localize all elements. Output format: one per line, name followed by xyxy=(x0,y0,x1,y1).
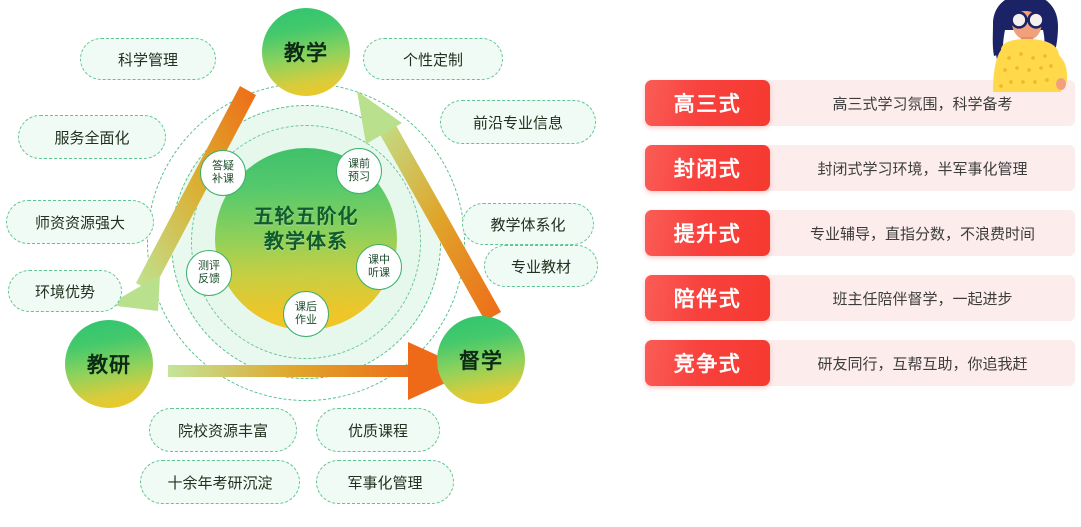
feature-badge-label: 竞争式 xyxy=(674,348,742,378)
satellite-line-1: 测评 xyxy=(198,260,220,273)
arrow-research-to-supervise xyxy=(168,342,472,400)
feature-description: 高三式学习氛围，科学备考 xyxy=(770,93,1075,114)
satellite-line-1: 课前 xyxy=(348,158,370,171)
node-supervise[interactable]: 督学 xyxy=(437,316,525,404)
feature-badge-label: 陪伴式 xyxy=(674,283,742,313)
satellite-in-class[interactable]: 课中 听课 xyxy=(356,244,402,290)
satellite-line-1: 课后 xyxy=(295,301,317,314)
feature-badge: 竞争式 xyxy=(645,340,770,386)
feature-pill[interactable]: 十余年考研沉淀 xyxy=(140,460,300,504)
node-research-label: 教研 xyxy=(87,349,131,379)
feature-badge-label: 高三式 xyxy=(674,88,742,118)
feature-badge-label: 封闭式 xyxy=(674,153,742,183)
feature-badge: 提升式 xyxy=(645,210,770,256)
node-research[interactable]: 教研 xyxy=(65,320,153,408)
satellite-line-2: 预习 xyxy=(348,171,370,184)
feature-pill[interactable]: 优质课程 xyxy=(316,408,440,452)
satellite-tutoring[interactable]: 答疑 补课 xyxy=(200,150,246,196)
feature-row[interactable]: 陪伴式 班主任陪伴督学，一起进步 xyxy=(645,275,1075,321)
feature-pill[interactable]: 服务全面化 xyxy=(18,115,166,159)
feature-description: 专业辅导，直指分数，不浪费时间 xyxy=(770,223,1075,244)
satellite-homework[interactable]: 课后 作业 xyxy=(283,291,329,337)
feature-pill-label: 师资资源强大 xyxy=(35,212,125,233)
satellite-line-1: 课中 xyxy=(368,254,390,267)
feature-row[interactable]: 竞争式 研友同行，互帮互助，你追我赶 xyxy=(645,340,1075,386)
feature-row[interactable]: 提升式 专业辅导，直指分数，不浪费时间 xyxy=(645,210,1075,256)
infographic-canvas: 五轮五阶化 教学体系 xyxy=(0,0,1081,527)
feature-pill-label: 优质课程 xyxy=(348,420,408,441)
feature-pill[interactable]: 科学管理 xyxy=(80,38,216,80)
feature-pill-label: 服务全面化 xyxy=(54,127,129,148)
feature-badge: 高三式 xyxy=(645,80,770,126)
feature-pill[interactable]: 专业教材 xyxy=(484,245,598,287)
satellite-preview[interactable]: 课前 预习 xyxy=(336,148,382,194)
feature-description: 封闭式学习环境，半军事化管理 xyxy=(770,158,1075,179)
feature-description: 班主任陪伴督学，一起进步 xyxy=(770,288,1075,309)
node-supervise-label: 督学 xyxy=(459,345,503,375)
feature-pill[interactable]: 环境优势 xyxy=(8,270,122,312)
feature-pill[interactable]: 前沿专业信息 xyxy=(440,100,596,144)
feature-pill[interactable]: 院校资源丰富 xyxy=(149,408,297,452)
feature-description: 研友同行，互帮互助，你追我赶 xyxy=(770,353,1075,374)
satellite-line-2: 作业 xyxy=(295,314,317,327)
feature-pill[interactable]: 教学体系化 xyxy=(462,203,594,245)
node-teaching-label: 教学 xyxy=(284,37,328,67)
satellite-line-1: 答疑 xyxy=(212,160,234,173)
satellite-line-2: 补课 xyxy=(212,173,234,186)
feature-pill[interactable]: 师资资源强大 xyxy=(6,200,154,244)
feature-pill[interactable]: 个性定制 xyxy=(363,38,503,80)
feature-pill-label: 军事化管理 xyxy=(347,472,422,493)
feature-pill-label: 院校资源丰富 xyxy=(178,420,268,441)
satellite-assessment[interactable]: 测评 反馈 xyxy=(186,250,232,296)
girl-with-glasses-illustration xyxy=(971,0,1075,92)
feature-row[interactable]: 封闭式 封闭式学习环境，半军事化管理 xyxy=(645,145,1075,191)
feature-pill-label: 环境优势 xyxy=(35,281,95,302)
feature-badge: 陪伴式 xyxy=(645,275,770,321)
feature-pill-label: 个性定制 xyxy=(403,49,463,70)
feature-badge: 封闭式 xyxy=(645,145,770,191)
feature-pill-label: 前沿专业信息 xyxy=(473,112,563,133)
feature-pill-label: 十余年考研沉淀 xyxy=(167,472,272,493)
feature-badge-label: 提升式 xyxy=(674,218,742,248)
feature-pill-label: 科学管理 xyxy=(118,49,178,70)
cycle-diagram: 五轮五阶化 教学体系 xyxy=(0,0,620,527)
node-teaching[interactable]: 教学 xyxy=(262,8,350,96)
feature-pill[interactable]: 军事化管理 xyxy=(316,460,454,504)
satellite-line-2: 反馈 xyxy=(198,273,220,286)
satellite-line-2: 听课 xyxy=(368,267,390,280)
feature-pill-label: 教学体系化 xyxy=(490,214,565,235)
feature-pill-label: 专业教材 xyxy=(511,256,571,277)
